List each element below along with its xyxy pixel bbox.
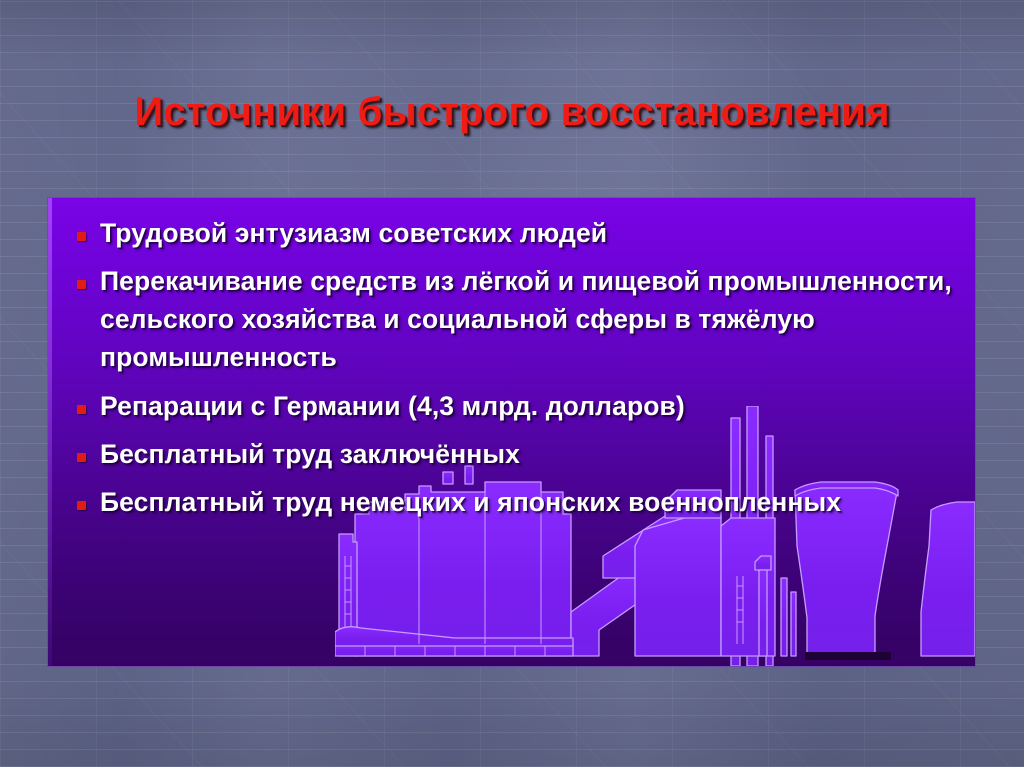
bullet-text: Бесплатный труд немецких и японских воен… xyxy=(100,479,967,525)
bullet-text: Перекачивание средств из лёгкой и пищево… xyxy=(100,258,967,380)
bullet-dot-icon xyxy=(62,210,100,246)
content-panel: Трудовой энтузиазм советских людей Перек… xyxy=(48,198,975,666)
bullet-text: Репарации с Германии (4,3 млрд. долларов… xyxy=(100,383,967,429)
bullet-dot-icon xyxy=(62,383,100,419)
list-item: Бесплатный труд заключённых xyxy=(62,431,967,477)
bullet-dot-icon xyxy=(62,479,100,515)
bullet-dot-icon xyxy=(62,431,100,467)
slide-title-line-1: Источники быстрого восстановления xyxy=(0,86,1024,138)
bullet-list: Трудовой энтузиазм советских людей Перек… xyxy=(62,210,967,527)
bullet-dot-icon xyxy=(62,258,100,294)
list-item: Перекачивание средств из лёгкой и пищево… xyxy=(62,258,967,380)
bullet-text: Бесплатный труд заключённых xyxy=(100,431,967,477)
presentation-slide: Источники быстрого восстановления народн… xyxy=(0,0,1024,767)
list-item: Репарации с Германии (4,3 млрд. долларов… xyxy=(62,383,967,429)
list-item: Бесплатный труд немецких и японских воен… xyxy=(62,479,967,525)
bullet-text: Трудовой энтузиазм советских людей xyxy=(100,210,967,256)
list-item: Трудовой энтузиазм советских людей xyxy=(62,210,967,256)
panel-left-edge-highlight xyxy=(48,198,52,666)
